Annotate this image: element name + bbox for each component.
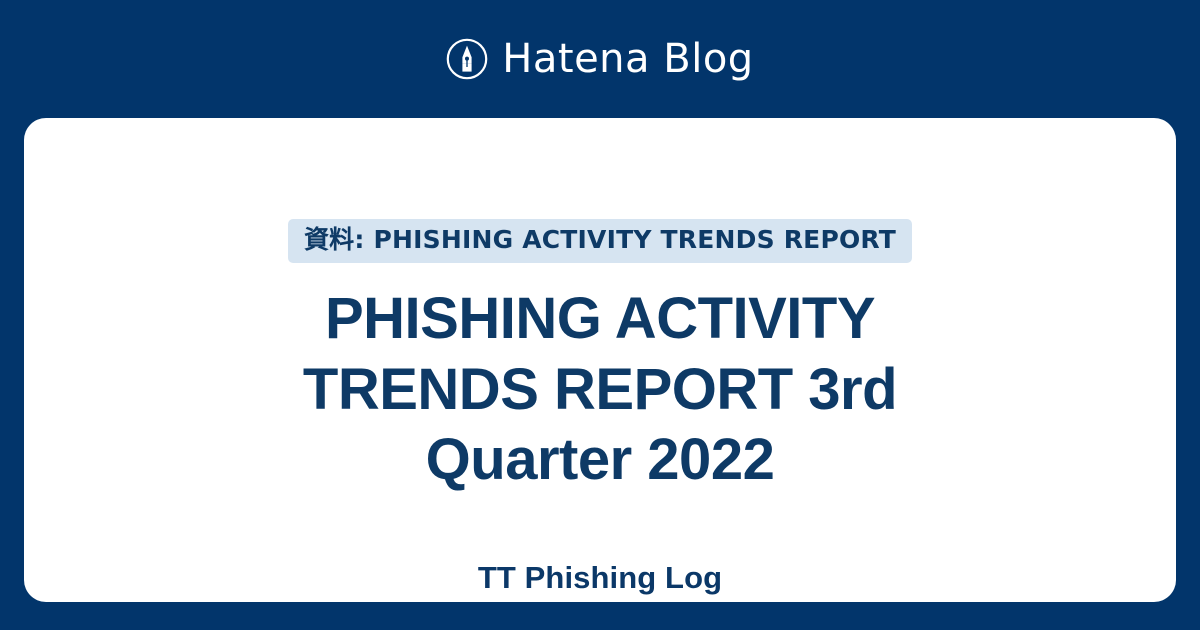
- hatena-pen-nib-icon: [446, 38, 488, 80]
- entry-title: PHISHING ACTIVITY TRENDS REPORT 3rd Quar…: [200, 284, 1000, 496]
- ogp-card-canvas: Hatena Blog 資料: PHISHING ACTIVITY TRENDS…: [0, 0, 1200, 630]
- hatena-blog-wordmark: Hatena Blog: [502, 39, 753, 79]
- category-badge[interactable]: 資料: PHISHING ACTIVITY TRENDS REPORT: [288, 219, 912, 263]
- entry-card: 資料: PHISHING ACTIVITY TRENDS REPORT PHIS…: [24, 118, 1176, 602]
- blog-name: TT Phishing Log: [478, 559, 722, 596]
- hatena-blog-branding: Hatena Blog: [0, 0, 1200, 118]
